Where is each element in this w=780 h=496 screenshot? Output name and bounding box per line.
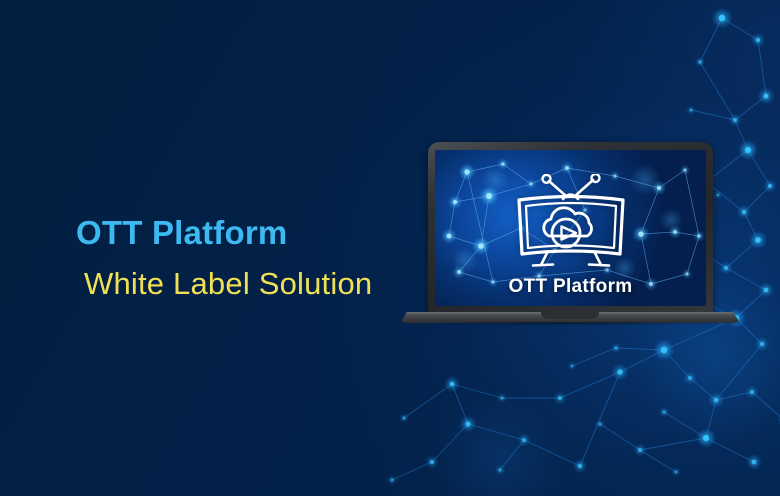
laptop-base-notch: [541, 312, 599, 319]
page-subtitle: White Label Solution: [84, 266, 372, 302]
tv-leg-right: [589, 253, 609, 266]
laptop-base: [400, 312, 740, 326]
laptop-illustration: OTT Platform: [400, 142, 740, 342]
page-title: OTT Platform: [76, 214, 372, 252]
headline-block: OTT Platform White Label Solution: [76, 214, 372, 302]
screen-caption: OTT Platform: [435, 276, 706, 298]
promo-banner: OTT Platform White Label Solution: [0, 0, 780, 496]
tv-cloud-play-icon: [509, 174, 633, 270]
laptop-lid: OTT Platform: [428, 142, 713, 314]
antenna-left: [542, 175, 566, 196]
tv-leg-left: [533, 253, 553, 266]
laptop-drop-shadow: [394, 322, 746, 327]
antenna-right: [575, 174, 600, 196]
laptop-screen: OTT Platform: [435, 150, 706, 306]
play-button: [552, 219, 580, 247]
